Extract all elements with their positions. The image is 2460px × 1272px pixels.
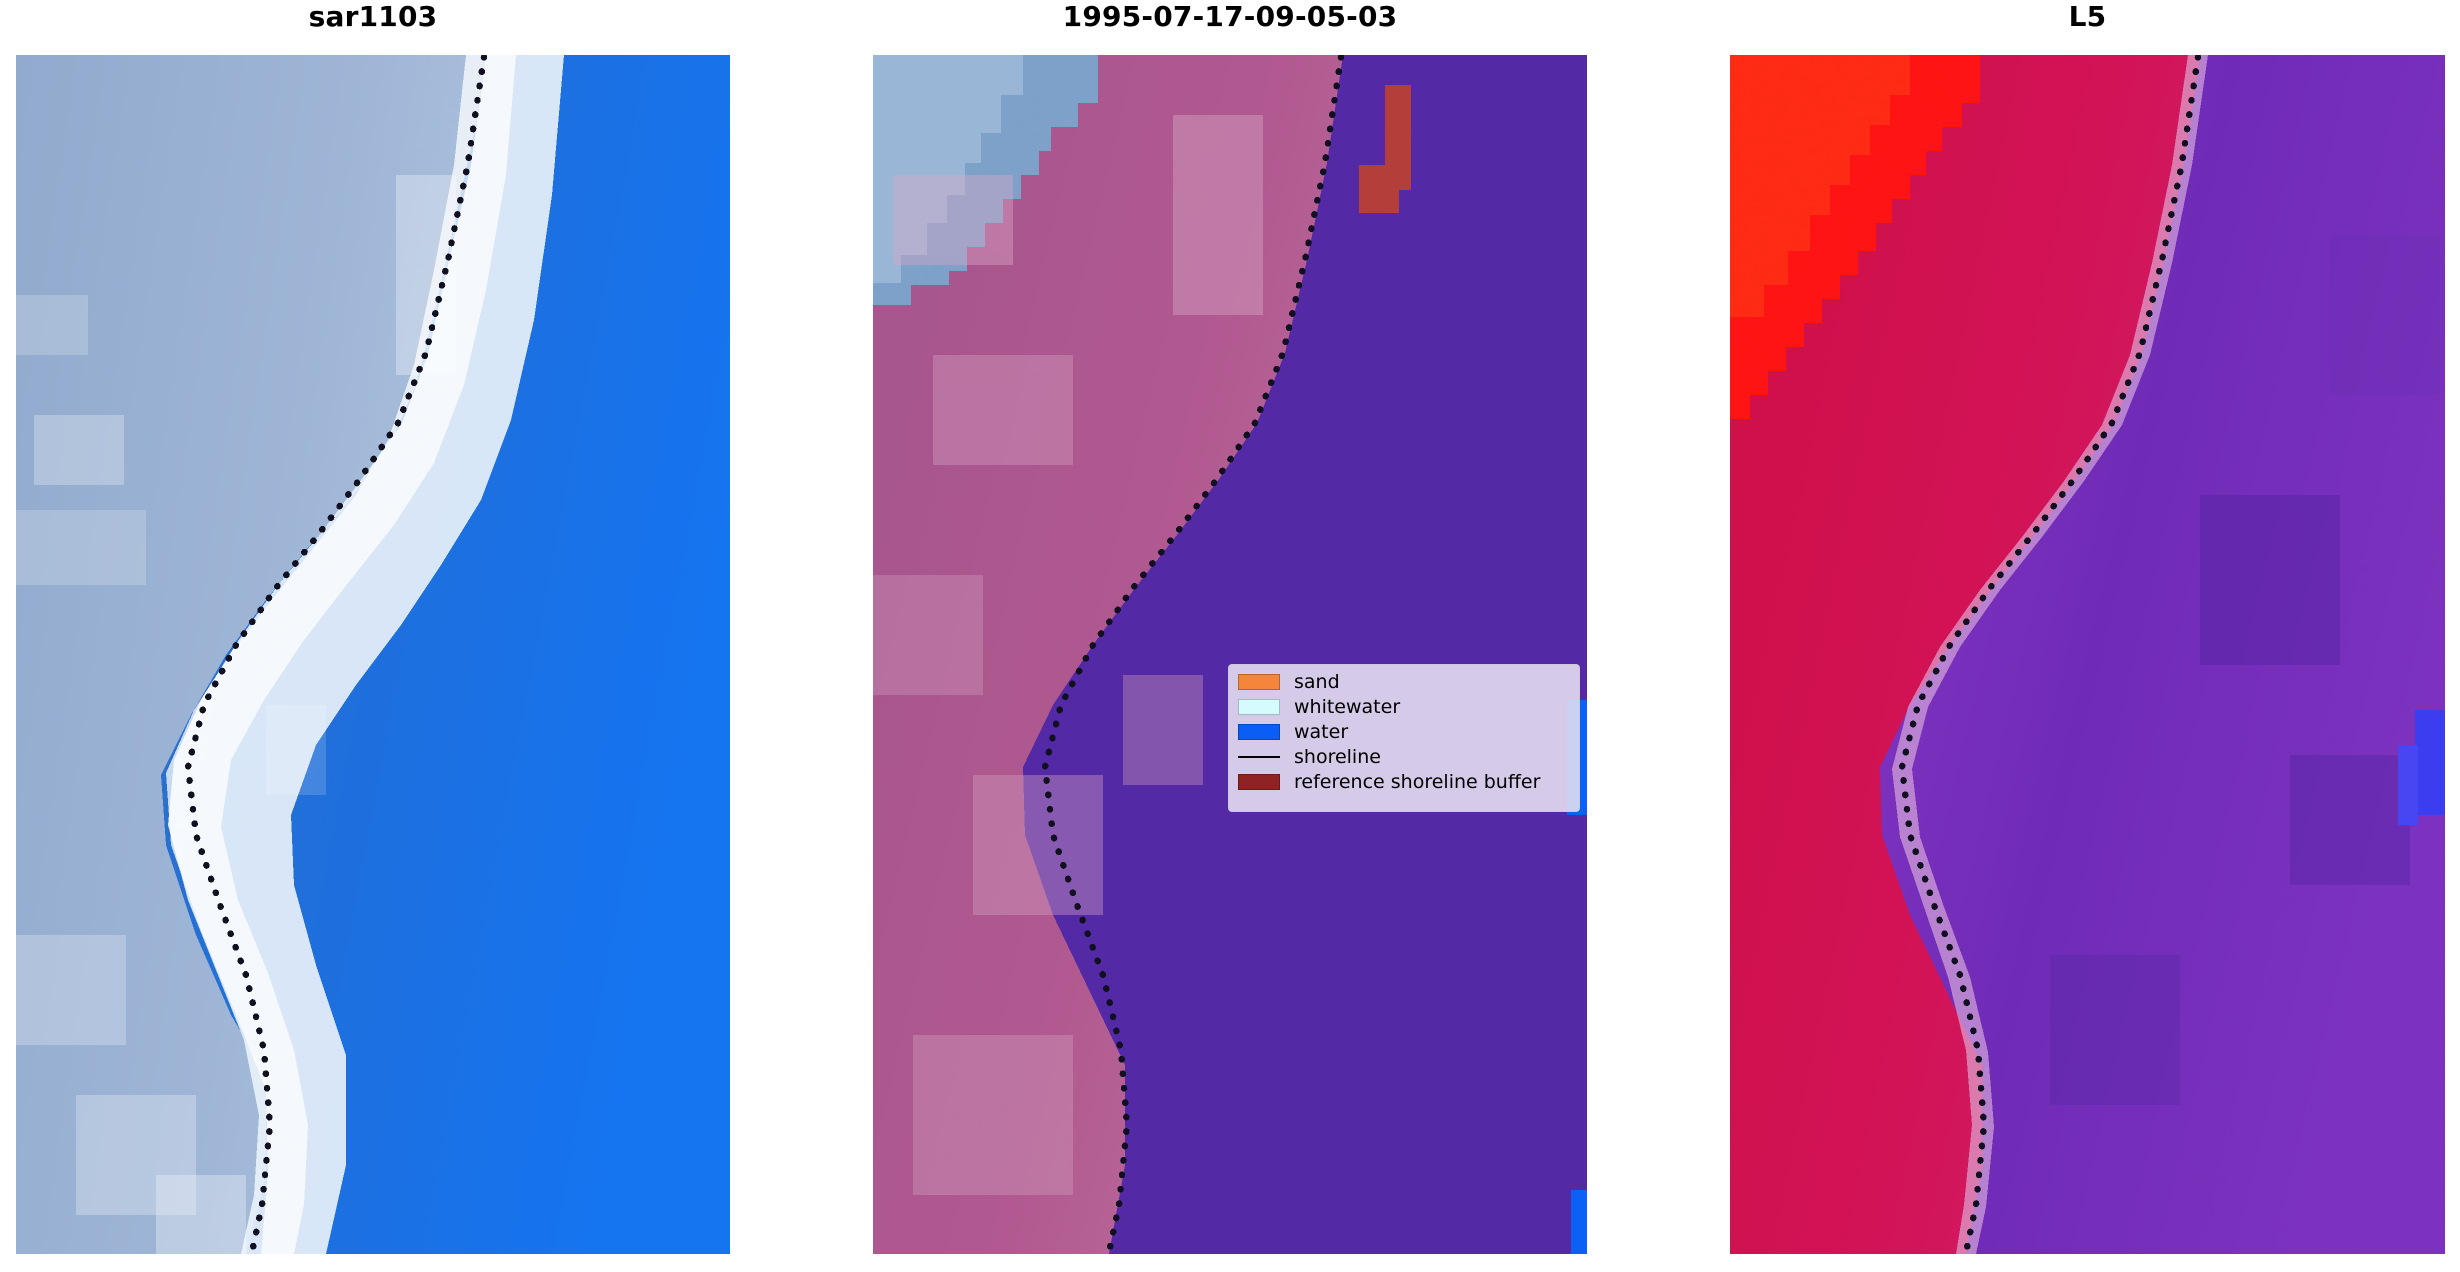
legend-label-sand: sand — [1294, 672, 1340, 692]
legend-swatch-shoreline — [1238, 756, 1280, 758]
panel-l5: L5 — [1730, 0, 2445, 1254]
legend-item-reference-shoreline-buffer[interactable]: reference shoreline buffer — [1238, 772, 1569, 792]
panel-axes-classification — [873, 55, 1587, 1254]
legend-swatch-water — [1238, 724, 1280, 740]
legend-item-whitewater[interactable]: whitewater — [1238, 697, 1569, 717]
legend-swatch-reference-buffer — [1238, 774, 1280, 790]
legend-label-whitewater: whitewater — [1294, 697, 1400, 717]
legend-swatch-whitewater — [1238, 699, 1280, 715]
panel-axes-l5 — [1730, 55, 2445, 1254]
legend: sand whitewater water shoreline referenc… — [1228, 664, 1580, 812]
legend-label-shoreline: shoreline — [1294, 747, 1381, 767]
legend-item-sand[interactable]: sand — [1238, 672, 1569, 692]
legend-label-water: water — [1294, 722, 1348, 742]
panel-sar: sar1103 — [16, 0, 730, 1254]
panel-title-l5: L5 — [1730, 0, 2445, 34]
panel-title-sar: sar1103 — [16, 0, 730, 34]
figure-canvas: sar1103 — [0, 0, 2460, 1272]
classification-raster-image — [873, 55, 1587, 1254]
panel-classification: 1995-07-17-09-05-03 — [873, 0, 1587, 1254]
legend-swatch-sand — [1238, 674, 1280, 690]
l5-raster-image — [1730, 55, 2445, 1254]
panel-axes-sar — [16, 55, 730, 1254]
panel-title-classification: 1995-07-17-09-05-03 — [873, 0, 1587, 34]
legend-item-shoreline[interactable]: shoreline — [1238, 747, 1569, 767]
legend-label-reference-buffer: reference shoreline buffer — [1294, 772, 1540, 792]
legend-item-water[interactable]: water — [1238, 722, 1569, 742]
sar-raster-image — [16, 55, 730, 1254]
